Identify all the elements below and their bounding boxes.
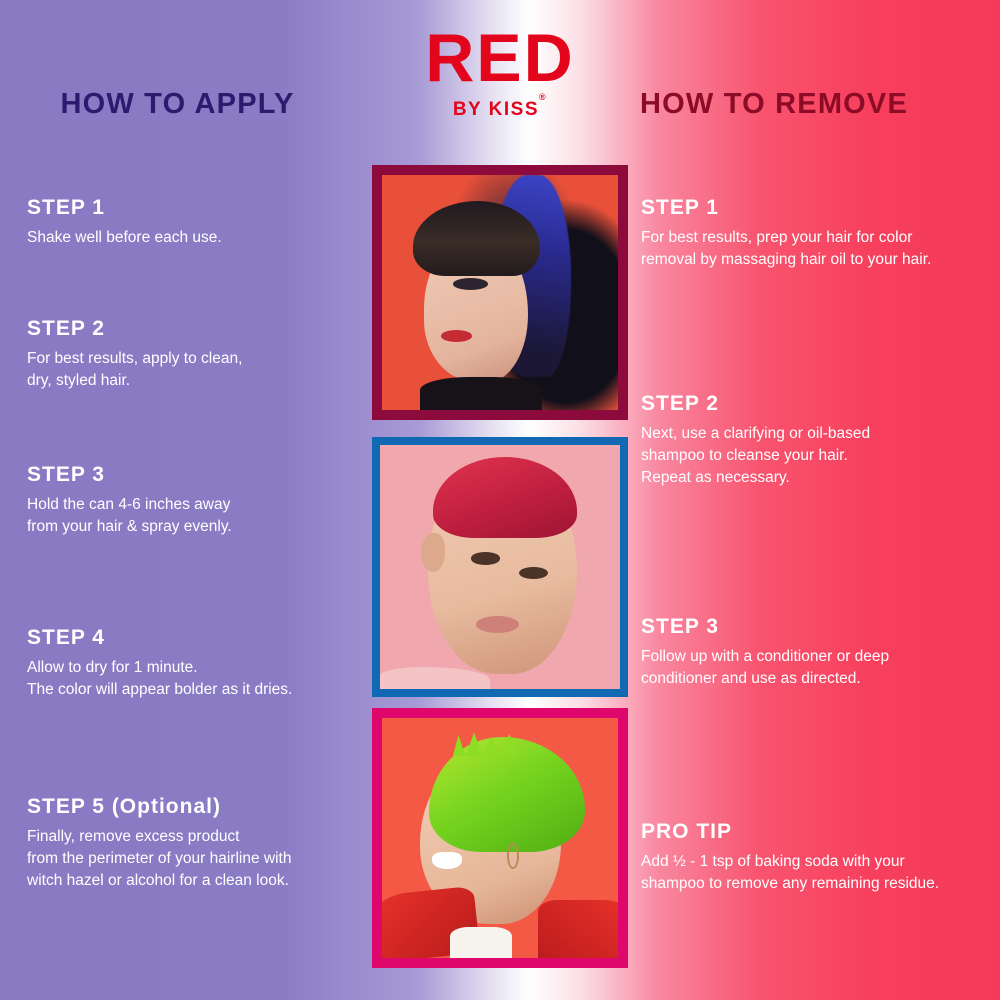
registered-trademark-icon: ® <box>539 92 547 102</box>
remove-step-3-body: Follow up with a conditioner or deep con… <box>641 646 993 690</box>
apply-step-3: STEP 3 Hold the can 4-6 inches away from… <box>27 463 357 538</box>
photo-model-red-buzzcut <box>372 437 628 697</box>
apply-step-4-body: Allow to dry for 1 minute. The color wil… <box>27 657 357 701</box>
remove-step-1-title: STEP 1 <box>641 196 993 220</box>
remove-step-2-title: STEP 2 <box>641 392 993 416</box>
remove-step-3-title: STEP 3 <box>641 615 993 639</box>
apply-step-5: STEP 5 (Optional) Finally, remove excess… <box>27 795 372 892</box>
apply-step-2: STEP 2 For best results, apply to clean,… <box>27 317 357 392</box>
apply-step-5-title: STEP 5 (Optional) <box>27 795 372 819</box>
apply-step-2-title: STEP 2 <box>27 317 357 341</box>
photo-model-green-hair <box>372 708 628 968</box>
apply-step-1-title: STEP 1 <box>27 196 357 220</box>
apply-step-4-title: STEP 4 <box>27 626 357 650</box>
apply-step-2-body: For best results, apply to clean, dry, s… <box>27 348 357 392</box>
remove-pro-tip: PRO TIP Add ½ - 1 tsp of baking soda wit… <box>641 820 993 895</box>
remove-pro-tip-body: Add ½ - 1 tsp of baking soda with your s… <box>641 851 993 895</box>
remove-pro-tip-title: PRO TIP <box>641 820 993 844</box>
remove-step-2-body: Next, use a clarifying or oil-based sham… <box>641 423 993 489</box>
apply-step-1-body: Shake well before each use. <box>27 227 357 249</box>
apply-step-4: STEP 4 Allow to dry for 1 minute. The co… <box>27 626 357 701</box>
remove-step-1-body: For best results, prep your hair for col… <box>641 227 993 271</box>
brand-tagline-text: BY KISS <box>453 99 539 120</box>
apply-step-1: STEP 1 Shake well before each use. <box>27 196 357 249</box>
remove-step-2: STEP 2 Next, use a clarifying or oil-bas… <box>641 392 993 489</box>
heading-how-to-apply: HOW TO APPLY <box>0 88 355 121</box>
remove-step-3: STEP 3 Follow up with a conditioner or d… <box>641 615 993 690</box>
heading-how-to-remove: HOW TO REMOVE <box>640 88 990 121</box>
apply-step-3-title: STEP 3 <box>27 463 357 487</box>
photo-model-blue-black-hair <box>372 165 628 420</box>
brand-name: RED <box>0 24 1000 92</box>
apply-step-5-body: Finally, remove excess product from the … <box>27 826 372 892</box>
remove-step-1: STEP 1 For best results, prep your hair … <box>641 196 993 271</box>
apply-step-3-body: Hold the can 4-6 inches away from your h… <box>27 494 357 538</box>
